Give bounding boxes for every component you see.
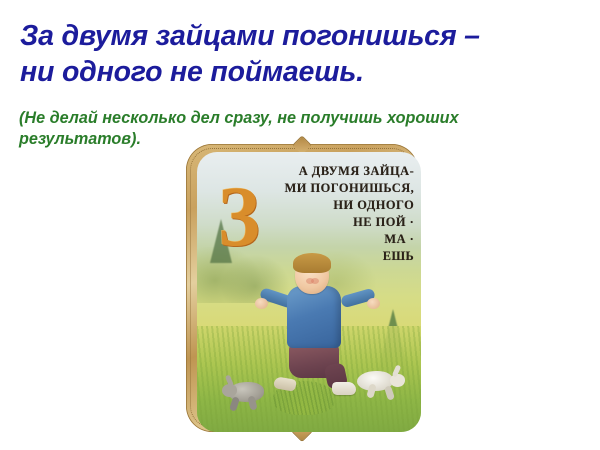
boy-blue-tunic <box>287 286 341 348</box>
hare-gray <box>222 377 272 407</box>
boy-right-hand <box>367 298 380 309</box>
illustration: З А ДВУМЯ ЗАЙЦА- МИ ПОГОНИШЬСЯ, НИ ОДНОГ… <box>179 140 425 436</box>
verse-line-1: А ДВУМЯ ЗАЙЦА- <box>271 163 414 180</box>
slavonic-verse: А ДВУМЯ ЗАЙЦА- МИ ПОГОНИШЬСЯ, НИ ОДНОГО … <box>271 163 414 265</box>
verse-line-3: НИ ОДНОГО <box>271 197 414 214</box>
lubok-picture: З А ДВУМЯ ЗАЙЦА- МИ ПОГОНИШЬСЯ, НИ ОДНОГ… <box>197 152 421 432</box>
title-line-1: За двумя зайцами погонишься – <box>20 18 586 54</box>
verse-line-5: МА · <box>271 231 414 248</box>
boy-right-cheek <box>311 278 319 284</box>
hare-white <box>351 366 405 396</box>
verse-line-2: МИ ПОГОНИШЬСЯ, <box>271 180 414 197</box>
illuminated-initial-letter: З <box>213 166 266 274</box>
title-line-2: ни одного не поймаешь. <box>20 54 586 90</box>
boy-left-boot <box>274 376 298 392</box>
page-title: За двумя зайцами погонишься – ни одного … <box>20 18 586 90</box>
verse-line-4: НЕ ПОЙ · <box>271 214 414 231</box>
boy-hair <box>293 253 331 273</box>
subtitle-line-1: (Не делай несколько дел сразу, не получи… <box>19 108 589 129</box>
slide-canvas: За двумя зайцами погонишься – ни одного … <box>0 0 600 450</box>
boy-left-hand <box>255 298 268 309</box>
ornate-frame: З А ДВУМЯ ЗАЙЦА- МИ ПОГОНИШЬСЯ, НИ ОДНОГ… <box>186 144 418 432</box>
